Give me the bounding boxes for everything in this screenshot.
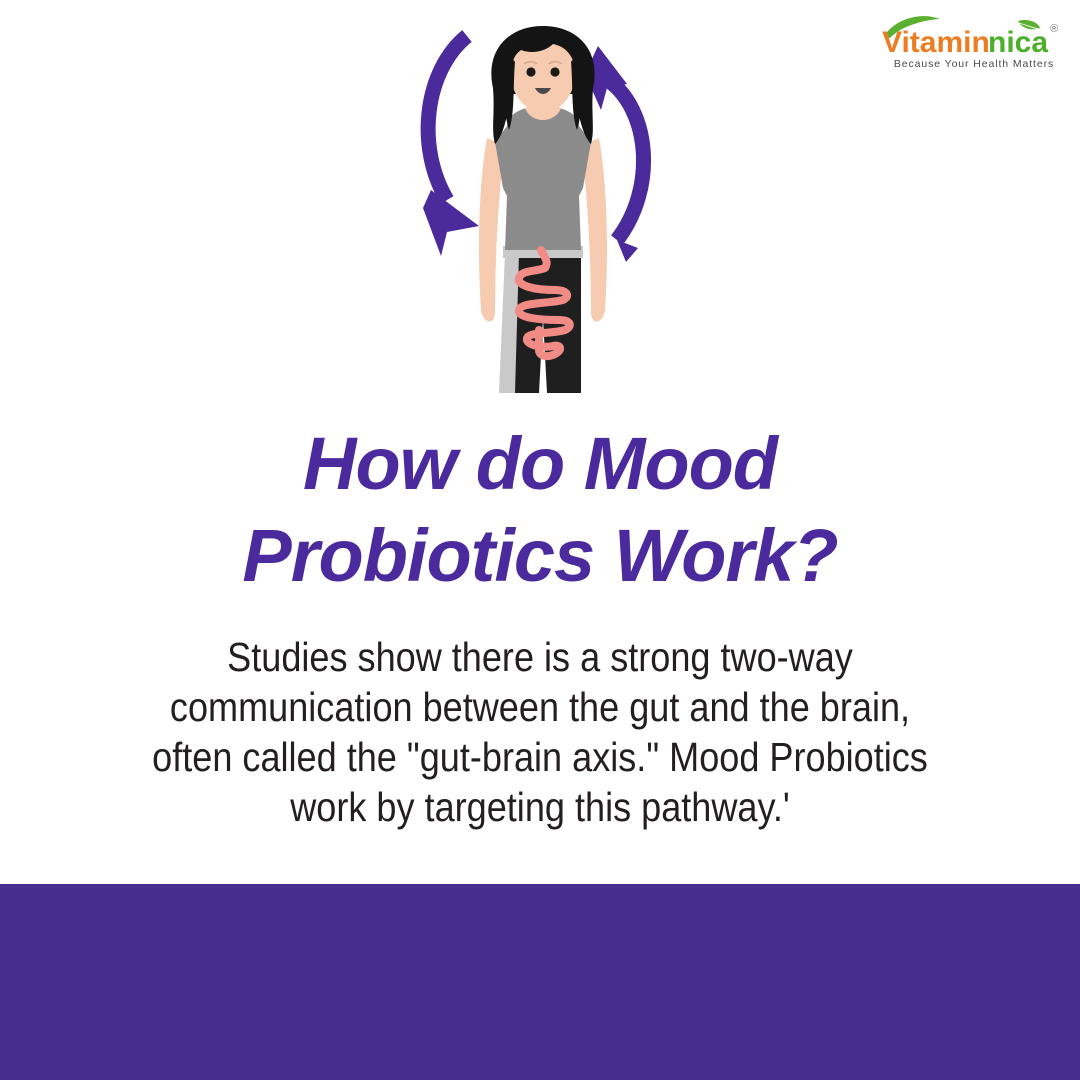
right-eye (550, 67, 559, 76)
brand-logo: Vitamin nica ® Because Your Health Matte… (878, 16, 1068, 78)
poster-canvas: Vitamin nica ® Because Your Health Matte… (0, 0, 1080, 1080)
left-eye (526, 67, 535, 76)
body-line-2: communication between the gut and the br… (118, 682, 963, 732)
title-line-1: How do Mood (0, 418, 1080, 510)
brand-tagline: Because Your Health Matters (884, 58, 1064, 70)
body-paragraph: Studies show there is a strong two-way c… (60, 632, 1020, 832)
svg-text:®: ® (1050, 23, 1058, 35)
page-title: How do Mood Probiotics Work? (0, 418, 1080, 602)
body-line-4: work by targeting this pathway.' (118, 782, 963, 832)
body-line-3: often called the "gut-brain axis." Mood … (118, 732, 963, 782)
title-line-2: Probiotics Work? (0, 510, 1080, 602)
logo-wordmark-graphic: Vitamin nica ® (878, 16, 1068, 60)
body-line-1: Studies show there is a strong two-way (118, 632, 963, 682)
svg-text:Vitamin: Vitamin (882, 26, 990, 59)
gut-brain-illustration (395, 18, 690, 403)
arrow-down-left-icon (423, 36, 479, 256)
svg-text:nica: nica (988, 26, 1048, 59)
footer-band (0, 884, 1080, 1080)
